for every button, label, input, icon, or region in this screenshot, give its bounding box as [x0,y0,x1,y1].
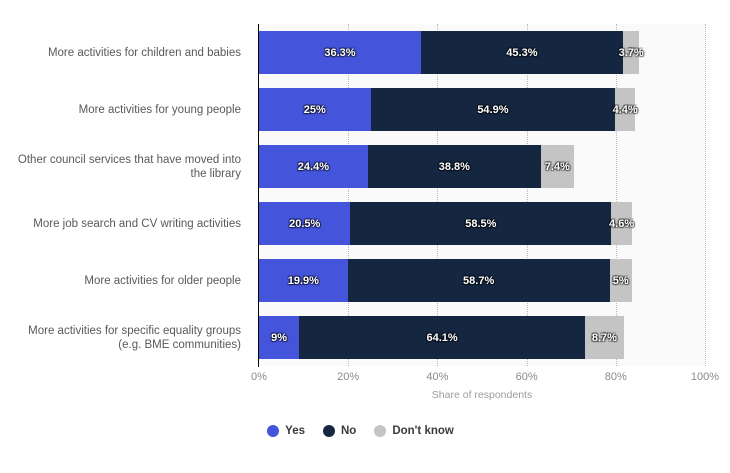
bar-segment-dont-know[interactable]: 4.6% [611,202,632,245]
bar-row: 24.4%38.8%7.4% [259,145,705,188]
x-tick-label: 80% [605,371,627,383]
bar-segment-yes[interactable]: 19.9% [259,259,348,302]
x-tick-label: 40% [426,371,448,383]
x-axis-ticks: 0%20%40%60%80%100% [259,371,705,387]
bar-value-label: 54.9% [477,104,508,116]
category-label: More activities for older people [0,274,250,288]
legend-color-swatch-icon [267,425,279,437]
bar-row: 19.9%58.7%5% [259,259,705,302]
bar-segment-yes[interactable]: 9% [259,316,299,359]
plot-area: 36.3%45.3%3.7%25%54.9%4.4%24.4%38.8%7.4%… [259,24,705,366]
legend-color-swatch-icon [374,425,386,437]
bar-value-label: 38.8% [439,161,470,173]
category-label: More activities for specific equality gr… [0,324,250,352]
category-label-line: (e.g. BME communities) [0,338,241,352]
bar-segment-dont-know[interactable]: 8.7% [585,316,624,359]
bar-segment-yes[interactable]: 20.5% [259,202,350,245]
x-tick-label: 100% [691,371,719,383]
bar-value-label: 8.7% [592,332,617,344]
legend-label: Yes [285,425,305,437]
bar-segment-yes[interactable]: 36.3% [259,31,421,74]
stacked-bar-chart: 36.3%45.3%3.7%25%54.9%4.4%24.4%38.8%7.4%… [0,0,730,473]
bar-value-label: 7.4% [545,161,570,173]
category-label: Other council services that have moved i… [0,153,250,181]
bar-segment-no[interactable]: 38.8% [368,145,541,188]
bar-segment-dont-know[interactable]: 5% [610,259,632,302]
category-label-line: More activities for children and babies [0,46,241,60]
x-tick-label: 0% [251,371,267,383]
category-labels: More activities for children and babiesM… [0,24,250,366]
category-label: More activities for children and babies [0,46,250,60]
y-axis-line [258,24,259,367]
legend-item[interactable]: No [323,425,356,437]
bar-value-label: 64.1% [426,332,457,344]
bar-row: 36.3%45.3%3.7% [259,31,705,74]
bar-segment-yes[interactable]: 24.4% [259,145,368,188]
category-label: More activities for young people [0,103,250,117]
category-label-line: Other council services that have moved i… [0,153,241,167]
bar-segment-dont-know[interactable]: 7.4% [541,145,574,188]
bar-value-label: 45.3% [506,47,537,59]
bar-value-label: 4.4% [613,104,638,116]
chart-legend: YesNoDon't know [0,425,730,437]
category-label-line: More activities for young people [0,103,241,117]
bar-segment-no[interactable]: 54.9% [371,88,616,131]
bar-value-label: 20.5% [289,218,320,230]
bar-segment-yes[interactable]: 25% [259,88,371,131]
bar-row: 20.5%58.5%4.6% [259,202,705,245]
bar-segment-dont-know[interactable]: 3.7% [623,31,640,74]
bar-value-label: 5% [613,275,629,287]
bar-rows: 36.3%45.3%3.7%25%54.9%4.4%24.4%38.8%7.4%… [259,24,705,366]
bar-value-label: 36.3% [324,47,355,59]
category-label-line: More activities for specific equality gr… [0,324,241,338]
bar-segment-no[interactable]: 58.5% [350,202,611,245]
bar-value-label: 9% [271,332,287,344]
bar-row: 25%54.9%4.4% [259,88,705,131]
category-label-line: the library [0,167,241,181]
category-label-line: More job search and CV writing activitie… [0,217,241,231]
bar-segment-dont-know[interactable]: 4.4% [615,88,635,131]
x-axis-title: Share of respondents [259,389,705,401]
legend-item[interactable]: Yes [267,425,305,437]
bar-row: 9%64.1%8.7% [259,316,705,359]
legend-label: No [341,425,356,437]
gridline-100 [705,24,706,366]
bar-value-label: 4.6% [609,218,634,230]
bar-value-label: 58.5% [465,218,496,230]
bar-segment-no[interactable]: 58.7% [348,259,610,302]
bar-segment-no[interactable]: 64.1% [299,316,585,359]
legend-label: Don't know [392,425,454,437]
bar-value-label: 19.9% [288,275,319,287]
bar-segment-no[interactable]: 45.3% [421,31,623,74]
bar-value-label: 24.4% [298,161,329,173]
category-label: More job search and CV writing activitie… [0,217,250,231]
legend-color-swatch-icon [323,425,335,437]
bar-value-label: 25% [304,104,326,116]
category-label-line: More activities for older people [0,274,241,288]
bar-value-label: 3.7% [619,47,644,59]
bar-value-label: 58.7% [463,275,494,287]
x-tick-label: 20% [337,371,359,383]
legend-item[interactable]: Don't know [374,425,454,437]
x-tick-label: 60% [516,371,538,383]
